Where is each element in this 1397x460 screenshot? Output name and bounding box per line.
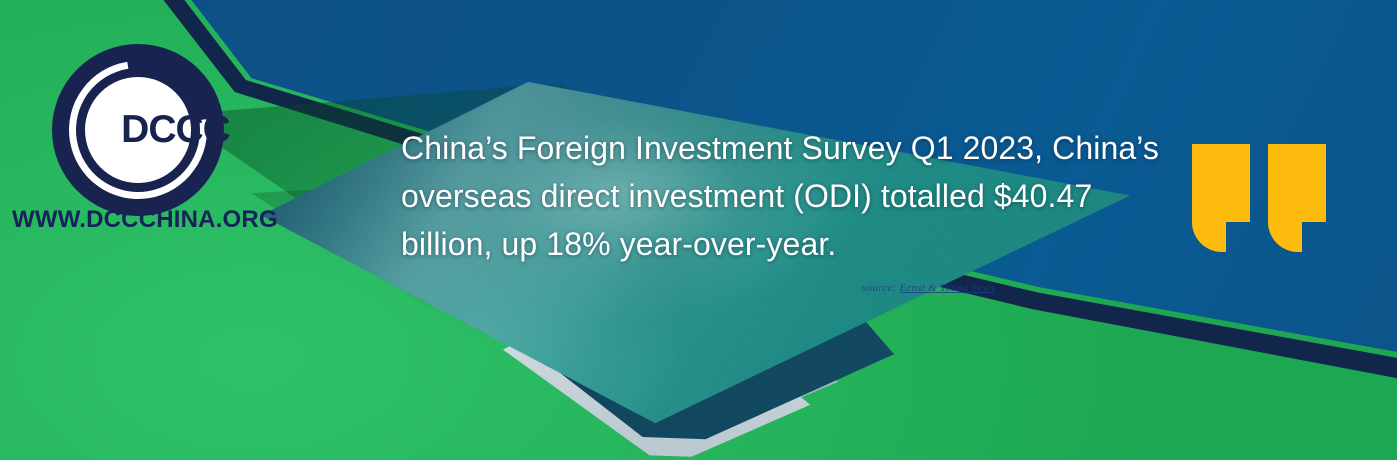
- quote-text: China’s Foreign Investment Survey Q1 202…: [401, 124, 1191, 268]
- dccc-logo[interactable]: DCCC: [52, 44, 224, 216]
- source-prefix-label: source:: [862, 282, 897, 294]
- logo-website-url[interactable]: WWW.DCCCHINA.ORG: [12, 206, 278, 234]
- quotation-mark-stem: [1268, 144, 1326, 222]
- quotation-mark-icon-2: [1268, 144, 1326, 252]
- quotation-mark-tail: [1268, 212, 1302, 252]
- quotation-mark-icon-1: [1192, 144, 1250, 252]
- logo-wordmark: DCCC: [52, 44, 247, 216]
- promo-banner: DCCC WWW.DCCCHINA.ORG China’s Foreign In…: [0, 0, 1397, 460]
- quotation-mark-tail: [1192, 212, 1226, 252]
- quotation-mark-stem: [1192, 144, 1250, 222]
- source-name-label: Ernst & Young news: [900, 282, 995, 294]
- quote-source-attribution: source: Ernst & Young news: [862, 282, 995, 294]
- closing-quotation-marks-icon: [1192, 144, 1326, 252]
